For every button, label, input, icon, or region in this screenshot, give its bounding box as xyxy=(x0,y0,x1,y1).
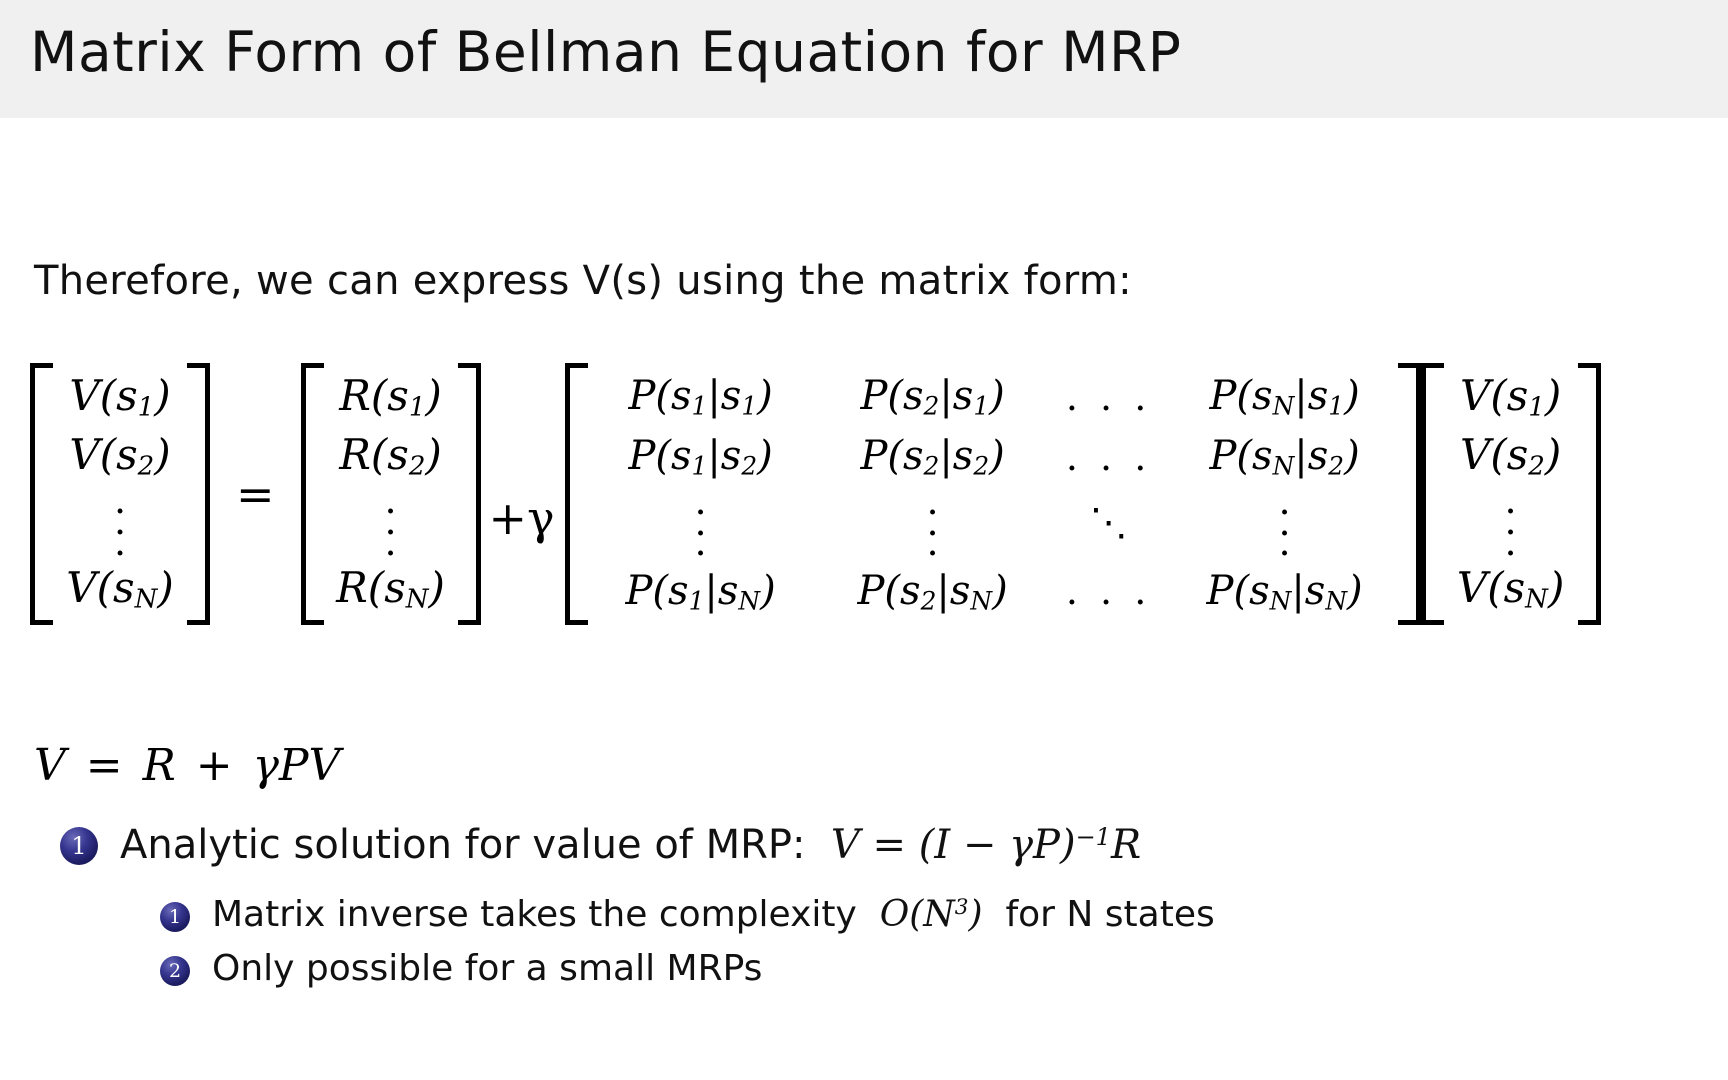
vertical-ellipsis: ... xyxy=(1279,491,1291,554)
matrix-cell: P(s1|sN) xyxy=(626,568,776,615)
vertical-ellipsis: ... xyxy=(317,486,465,561)
matrix-cell: R(sN) xyxy=(317,567,465,613)
matrix-cell: R(s2) xyxy=(317,434,465,480)
matrix-cell: P(sN|s2) xyxy=(1210,433,1360,480)
matrix-cell: P(sN|s1) xyxy=(1210,373,1360,420)
equals-sign: = xyxy=(210,467,301,521)
bullet-label: Only possible for a small MRPs xyxy=(212,948,762,989)
slide-root: Matrix Form of Bellman Equation for MRP … xyxy=(0,0,1728,1080)
bullet-text: Analytic solution for value of MRP: V = … xyxy=(98,822,1141,868)
matrix-cell: P(s1|s1) xyxy=(628,373,772,420)
bullet-item-analytic-solution: 1 Analytic solution for value of MRP: V … xyxy=(60,822,1141,869)
complexity-formula: O(N3) xyxy=(868,894,994,935)
bullet-label: Analytic solution for value of MRP: xyxy=(120,822,806,868)
matrix-cell: V(s1) xyxy=(1437,375,1585,421)
bullet-item-matrix-inverse-complexity: 1 Matrix inverse takes the complexity O(… xyxy=(160,894,1215,935)
numbered-bullet-icon: 2 xyxy=(160,956,190,986)
matrix-cell: V(sN) xyxy=(1437,567,1585,613)
vertical-ellipsis: ... xyxy=(695,491,707,554)
matrix-cell: P(s1|s2) xyxy=(628,433,772,480)
matrix-cell: V(sN) xyxy=(46,567,194,613)
page-title: Matrix Form of Bellman Equation for MRP xyxy=(30,20,1181,84)
matrix-cell: P(sN|sN) xyxy=(1207,568,1363,615)
matrix-cell: P(s2|sN) xyxy=(858,568,1008,615)
bullet-text: Only possible for a small MRPs xyxy=(190,948,762,989)
plus-gamma-operator: +γ xyxy=(481,491,565,545)
title-bar: Matrix Form of Bellman Equation for MRP xyxy=(0,0,1728,118)
matrix-cell: V(s2) xyxy=(1437,434,1585,480)
horizontal-ellipsis: . . . xyxy=(1066,435,1151,479)
matrix-cell: P(s2|s1) xyxy=(860,373,1004,420)
numbered-bullet-icon: 1 xyxy=(160,902,190,932)
numbered-bullet-icon: 1 xyxy=(60,827,98,865)
horizontal-ellipsis: . . . xyxy=(1066,375,1151,419)
compact-bellman-equation: V = R + γPV xyxy=(34,740,340,791)
bullet-text: Matrix inverse takes the complexity O(N3… xyxy=(190,894,1215,935)
rhs-value-vector: V(s1) V(s2) ... V(sN) xyxy=(1421,363,1601,625)
matrix-cell: V(s1) xyxy=(46,375,194,421)
matrix-cell: R(s1) xyxy=(317,375,465,421)
horizontal-ellipsis: . . . xyxy=(1066,569,1151,613)
vertical-ellipsis: ... xyxy=(46,486,194,561)
matrix-equation: V(s1) V(s2) ... V(sN) = R(s1) R(s2) ... … xyxy=(30,356,1601,632)
vertical-ellipsis: ... xyxy=(1437,486,1585,561)
intro-sentence: Therefore, we can express V(s) using the… xyxy=(34,258,1132,304)
lhs-value-vector: V(s1) V(s2) ... V(sN) xyxy=(30,363,210,625)
transition-probability-matrix: P(s1|s1) P(s2|s1) . . . P(sN|s1) P(s1|s2… xyxy=(565,363,1421,625)
bullet-label-suffix: for N states xyxy=(1005,894,1214,935)
bullet-item-small-mrps: 2 Only possible for a small MRPs xyxy=(160,948,762,989)
matrix-cell: V(s2) xyxy=(46,434,194,480)
vertical-ellipsis: ... xyxy=(927,491,939,554)
diagonal-ellipsis: ⋱ xyxy=(1090,500,1128,544)
reward-vector: R(s1) R(s2) ... R(sN) xyxy=(301,363,481,625)
matrix-cell: P(s2|s2) xyxy=(860,433,1004,480)
bullet-label: Matrix inverse takes the complexity xyxy=(212,894,857,935)
analytic-solution-formula: V = (I − γP)−1R xyxy=(818,822,1141,868)
